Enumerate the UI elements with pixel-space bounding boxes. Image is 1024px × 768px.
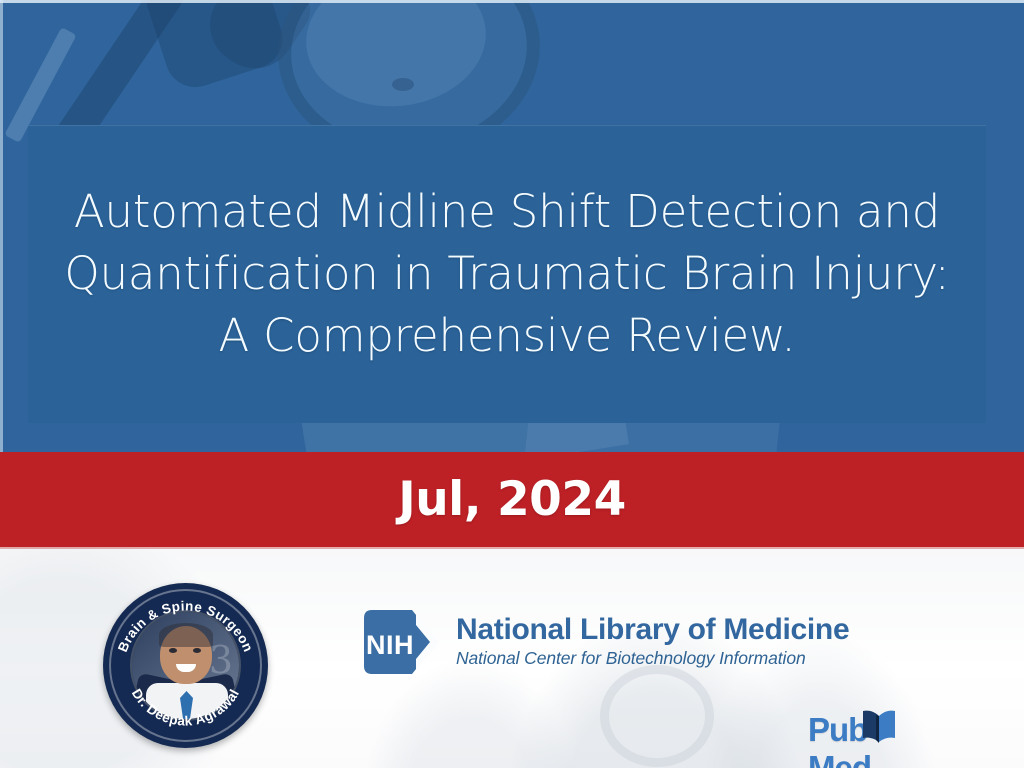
page-title: Automated Midline Shift Detection and Qu… [28, 181, 986, 367]
footer-stethoscope-ring [600, 665, 714, 767]
nlm-text-block: National Library of Medicine National Ce… [456, 614, 849, 670]
open-book-icon [861, 707, 897, 747]
pubmed-pub-text: Pub [808, 711, 867, 748]
badge-top-textpath: Brain & Spine Surgeon [115, 598, 256, 654]
stethoscope-bell-dot [392, 78, 414, 91]
nlm-logo: NIH National Library of Medicine Nationa… [360, 608, 849, 676]
doctor-badge: 3 Brain & Spine Surgeon Dr. Deepak Agraw… [103, 583, 268, 748]
badge-bottom-textpath: Dr. Deepak Agrawal [129, 686, 242, 728]
publication-slide: Automated Midline Shift Detection and Qu… [0, 0, 1024, 768]
badge-bottom-label: Dr. Deepak Agrawal [129, 686, 242, 728]
footer-top-rule [0, 547, 1024, 549]
svg-text:NIH: NIH [366, 630, 414, 660]
pubmed-logo: PubMed [808, 707, 944, 753]
title-panel: Automated Midline Shift Detection and Qu… [28, 125, 986, 423]
hero-top-border [0, 0, 1024, 3]
date-banner: Jul, 2024 [0, 452, 1024, 547]
badge-curved-text: Brain & Spine Surgeon Dr. Deepak Agrawal [103, 583, 268, 748]
hero-left-border [0, 0, 3, 452]
nlm-title: National Library of Medicine [456, 614, 849, 645]
publication-date: Jul, 2024 [398, 472, 626, 527]
pubmed-med-text: Med [808, 749, 871, 768]
nlm-subtitle: National Center for Biotechnology Inform… [456, 648, 849, 670]
badge-top-label: Brain & Spine Surgeon [115, 598, 256, 654]
nih-icon: NIH [360, 608, 442, 676]
